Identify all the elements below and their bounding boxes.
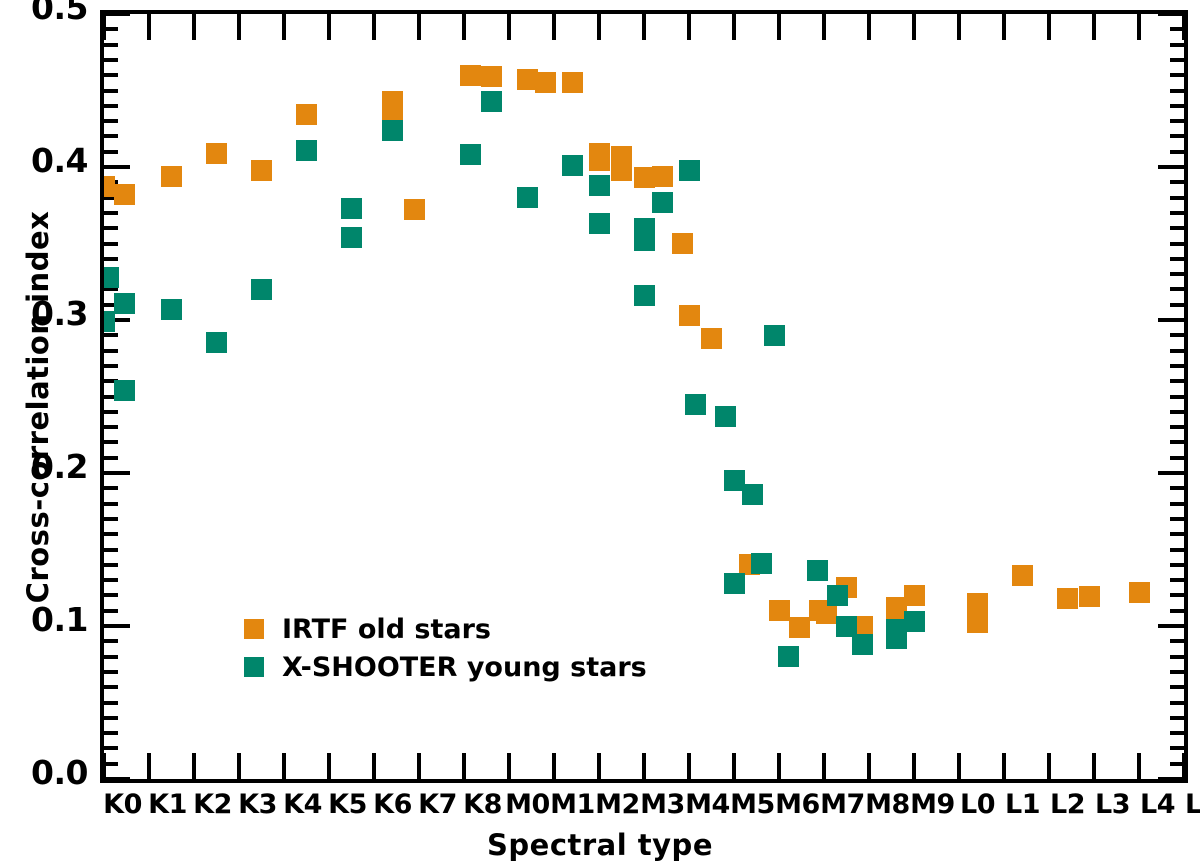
data-point bbox=[679, 305, 700, 326]
data-point bbox=[382, 120, 403, 141]
data-point bbox=[852, 634, 873, 655]
data-point bbox=[1057, 588, 1078, 609]
data-point bbox=[535, 72, 556, 93]
data-point bbox=[251, 279, 272, 300]
data-point bbox=[481, 66, 502, 87]
data-point bbox=[827, 585, 848, 606]
data-point bbox=[634, 230, 655, 251]
data-point bbox=[652, 166, 673, 187]
data-point bbox=[751, 553, 772, 574]
data-point bbox=[904, 585, 925, 606]
data-point bbox=[589, 150, 610, 171]
y-axis-title: Cross-correlation index bbox=[21, 127, 55, 687]
data-point bbox=[562, 72, 583, 93]
data-point bbox=[104, 267, 119, 288]
data-point bbox=[460, 144, 481, 165]
square-swatch-green-icon bbox=[244, 657, 264, 677]
data-point bbox=[341, 227, 362, 248]
data-point bbox=[460, 65, 481, 86]
data-point bbox=[517, 187, 538, 208]
x-axis-title: Spectral type bbox=[0, 828, 1200, 862]
data-point bbox=[382, 100, 403, 121]
legend-item-xshooter: X-SHOOTER young stars bbox=[244, 648, 647, 686]
data-point bbox=[679, 160, 700, 181]
scatter-plot-figure: IRTF old stars X-SHOOTER young stars 0.0… bbox=[0, 0, 1200, 864]
data-point bbox=[251, 160, 272, 181]
data-point bbox=[341, 198, 362, 219]
data-point bbox=[481, 91, 502, 112]
plot-area: IRTF old stars X-SHOOTER young stars bbox=[100, 10, 1188, 783]
data-point bbox=[114, 380, 135, 401]
data-point bbox=[1129, 582, 1150, 603]
data-point bbox=[114, 293, 135, 314]
data-point bbox=[634, 285, 655, 306]
data-point bbox=[652, 192, 673, 213]
data-point bbox=[789, 617, 810, 638]
data-point bbox=[778, 646, 799, 667]
data-point bbox=[816, 603, 837, 624]
x-tick-label: L5 bbox=[1168, 789, 1200, 820]
data-point bbox=[672, 233, 693, 254]
legend-item-irtf: IRTF old stars bbox=[244, 610, 647, 648]
data-point bbox=[769, 600, 790, 621]
data-point bbox=[1012, 565, 1033, 586]
data-point bbox=[967, 593, 988, 614]
data-point bbox=[685, 394, 706, 415]
data-point bbox=[764, 325, 785, 346]
data-point bbox=[1079, 586, 1100, 607]
y-tick-label: 0.0 bbox=[0, 753, 88, 792]
data-point bbox=[589, 213, 610, 234]
data-point bbox=[724, 573, 745, 594]
data-point bbox=[161, 166, 182, 187]
data-point bbox=[562, 155, 583, 176]
data-point bbox=[611, 160, 632, 181]
data-point bbox=[589, 175, 610, 196]
data-point bbox=[404, 199, 425, 220]
data-point bbox=[715, 406, 736, 427]
data-point bbox=[206, 143, 227, 164]
data-point bbox=[701, 328, 722, 349]
data-point bbox=[296, 104, 317, 125]
square-swatch-orange-icon bbox=[244, 619, 264, 639]
data-point bbox=[161, 299, 182, 320]
data-point bbox=[206, 332, 227, 353]
data-point bbox=[742, 484, 763, 505]
data-point bbox=[807, 560, 828, 581]
data-point bbox=[904, 611, 925, 632]
legend-label-irtf: IRTF old stars bbox=[282, 614, 491, 645]
data-point bbox=[296, 140, 317, 161]
data-point bbox=[114, 184, 135, 205]
legend: IRTF old stars X-SHOOTER young stars bbox=[244, 610, 647, 686]
data-point bbox=[967, 612, 988, 633]
data-point bbox=[104, 311, 115, 332]
y-tick-label: 0.5 bbox=[0, 0, 88, 27]
legend-label-xshooter: X-SHOOTER young stars bbox=[282, 652, 647, 683]
